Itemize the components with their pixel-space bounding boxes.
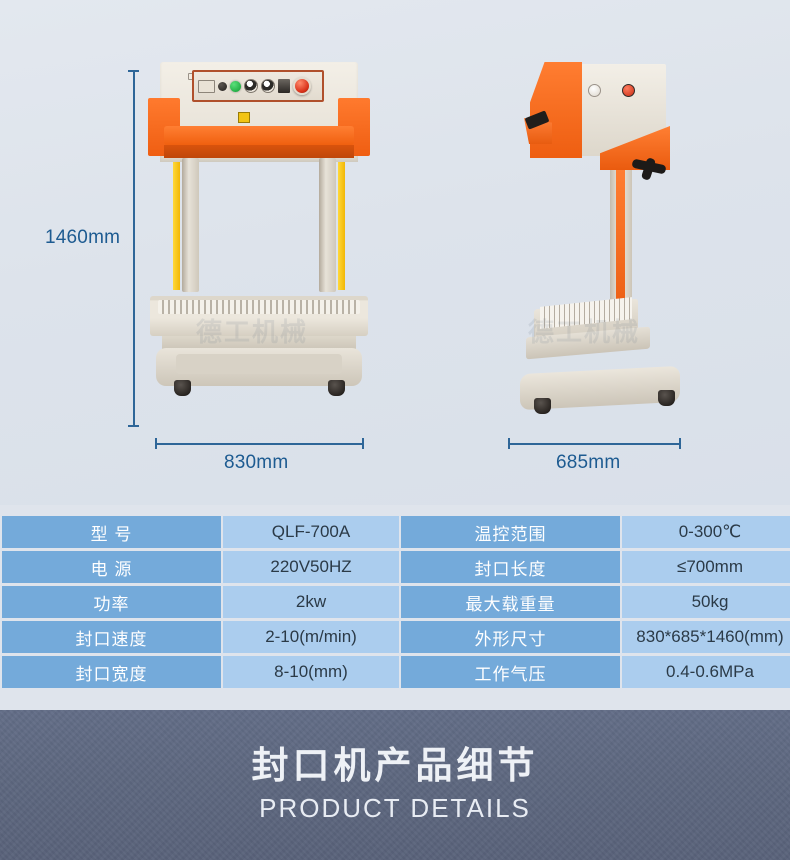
spec-label: 封口速度 (2, 621, 221, 653)
dimension-cap-side-right (679, 438, 681, 449)
dimension-cap-height-top (128, 70, 139, 72)
spec-label: 封口长度 (401, 551, 620, 583)
dimension-cap-front-right (362, 438, 364, 449)
dimension-label-height: 1460mm (45, 227, 120, 249)
spec-value: 50kg (622, 586, 790, 618)
dimension-line-front-width (155, 443, 363, 445)
dimension-cap-side-left (508, 438, 510, 449)
spec-label: 外形尺寸 (401, 621, 620, 653)
right-support-column (319, 158, 336, 292)
table-row: 功率 2kw 最大载重量 50kg (2, 586, 790, 618)
spec-value: ≤700mm (622, 551, 790, 583)
spec-value: 0-300℃ (622, 516, 790, 548)
base-frame-inner (176, 354, 342, 374)
warning-label-sticker (238, 112, 250, 123)
control-panel (192, 70, 324, 102)
spec-label: 电 源 (2, 551, 221, 583)
temperature-gauge-1 (244, 79, 258, 93)
spec-label: 工作气压 (401, 656, 620, 688)
dimension-line-side-width (508, 443, 680, 445)
dimension-label-front-width: 830mm (224, 452, 288, 474)
table-row: 封口宽度 8-10(mm) 工作气压 0.4-0.6MPa (2, 656, 790, 688)
display-meter (198, 80, 215, 93)
spec-value: 220V50HZ (223, 551, 399, 583)
conveyor-rollers (158, 300, 360, 314)
table-row: 电 源 220V50HZ 封口长度 ≤700mm (2, 551, 790, 583)
spec-value: 0.4-0.6MPa (622, 656, 790, 688)
product-details-banner: 封口机产品细节 PRODUCT DETAILS (0, 710, 790, 860)
table-row: 封口速度 2-10(m/min) 外形尺寸 830*685*1460(mm) (2, 621, 790, 653)
banner-subtitle: PRODUCT DETAILS (259, 793, 531, 824)
side-view-sealing-machine (512, 58, 688, 442)
speed-knob (218, 82, 227, 91)
spec-label: 封口宽度 (2, 656, 221, 688)
sealing-bar-shadow (164, 145, 354, 158)
left-support-column (182, 158, 199, 292)
spec-value: 830*685*1460(mm) (622, 621, 790, 653)
spec-value: 2kw (223, 586, 399, 618)
dimension-label-side-width: 685mm (556, 452, 620, 474)
caster-wheel (658, 390, 675, 406)
banner-title: 封口机产品细节 (252, 746, 539, 787)
emergency-stop-button (293, 77, 311, 95)
front-view-sealing-machine (148, 62, 370, 442)
right-height-scale (338, 162, 345, 290)
dimension-line-height (133, 70, 135, 426)
dimension-cap-front-left (155, 438, 157, 449)
table-row: 型 号 QLF-700A 温控范围 0-300℃ (2, 516, 790, 548)
pressure-gauge (588, 84, 601, 97)
red-indicator-button (622, 84, 635, 97)
caster-wheel (534, 398, 551, 414)
temperature-gauge-2 (261, 79, 275, 93)
dimension-cap-height-bottom (128, 425, 139, 427)
spec-value: 2-10(m/min) (223, 621, 399, 653)
product-photo-area: 1460mm (0, 0, 790, 505)
caster-wheel (328, 380, 345, 396)
spec-value: 8-10(mm) (223, 656, 399, 688)
spec-label: 温控范围 (401, 516, 620, 548)
start-button-green (230, 81, 241, 92)
left-height-scale (173, 162, 180, 290)
spec-value: QLF-700A (223, 516, 399, 548)
power-switch (278, 79, 290, 93)
caster-wheel (174, 380, 191, 396)
specification-table-body: 型 号 QLF-700A 温控范围 0-300℃ 电 源 220V50HZ 封口… (2, 516, 790, 688)
spec-label: 功率 (2, 586, 221, 618)
sealing-bar (164, 126, 354, 145)
spec-label: 型 号 (2, 516, 221, 548)
spec-label: 最大载重量 (401, 586, 620, 618)
specification-table: 型 号 QLF-700A 温控范围 0-300℃ 电 源 220V50HZ 封口… (0, 513, 790, 691)
